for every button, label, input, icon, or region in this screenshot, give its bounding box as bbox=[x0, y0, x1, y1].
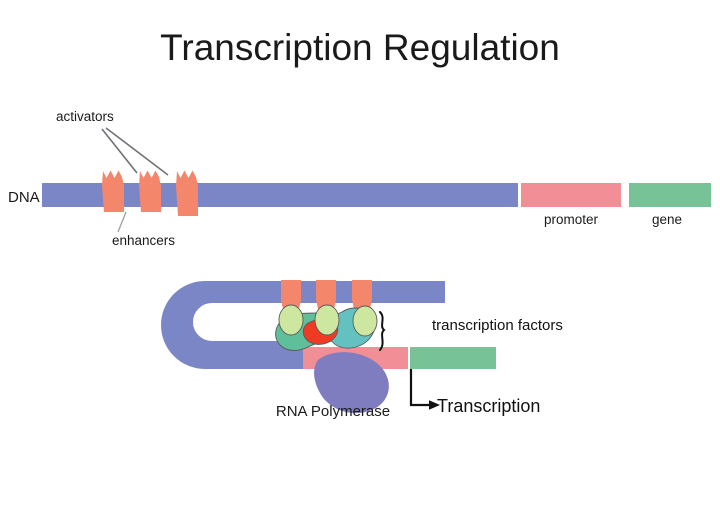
transcription-label: Transcription bbox=[437, 396, 540, 416]
transcription-factor-complex bbox=[276, 305, 377, 351]
tf-oval-1 bbox=[279, 305, 303, 335]
activators-label: activators bbox=[56, 109, 114, 124]
promoter-segment bbox=[521, 183, 621, 207]
transcription-factors-label: transcription factors bbox=[432, 317, 563, 334]
activator-top-3 bbox=[176, 171, 198, 217]
enhancers-label: enhancers bbox=[112, 233, 175, 248]
bottom-panel: transcription factors RNA Polymerase Tra… bbox=[172, 280, 563, 420]
gene-label: gene bbox=[652, 212, 682, 227]
transcription-regulation-diagram: Transcription Regulation DNA bbox=[0, 0, 720, 518]
activators-leader-line-2 bbox=[106, 128, 168, 175]
top-panel: DNA activators bbox=[8, 109, 711, 248]
transcription-factors-brace bbox=[380, 312, 384, 350]
activator-top-2 bbox=[139, 171, 161, 213]
promoter-label: promoter bbox=[544, 212, 599, 227]
gene-segment bbox=[629, 183, 711, 207]
enhancers-leader-line bbox=[118, 212, 126, 232]
tf-oval-2 bbox=[315, 305, 339, 335]
page-title: Transcription Regulation bbox=[160, 27, 560, 68]
activator-top-1 bbox=[102, 171, 124, 213]
rna-polymerase-label: RNA Polymerase bbox=[276, 403, 390, 420]
transcription-arrow-line bbox=[411, 369, 432, 405]
dna-label: DNA bbox=[8, 189, 40, 206]
gene-segment-bottom bbox=[410, 347, 496, 369]
activators-leader-line-1 bbox=[102, 129, 137, 173]
tf-oval-3 bbox=[353, 306, 377, 336]
diagram-canvas: Transcription Regulation DNA bbox=[0, 0, 720, 518]
